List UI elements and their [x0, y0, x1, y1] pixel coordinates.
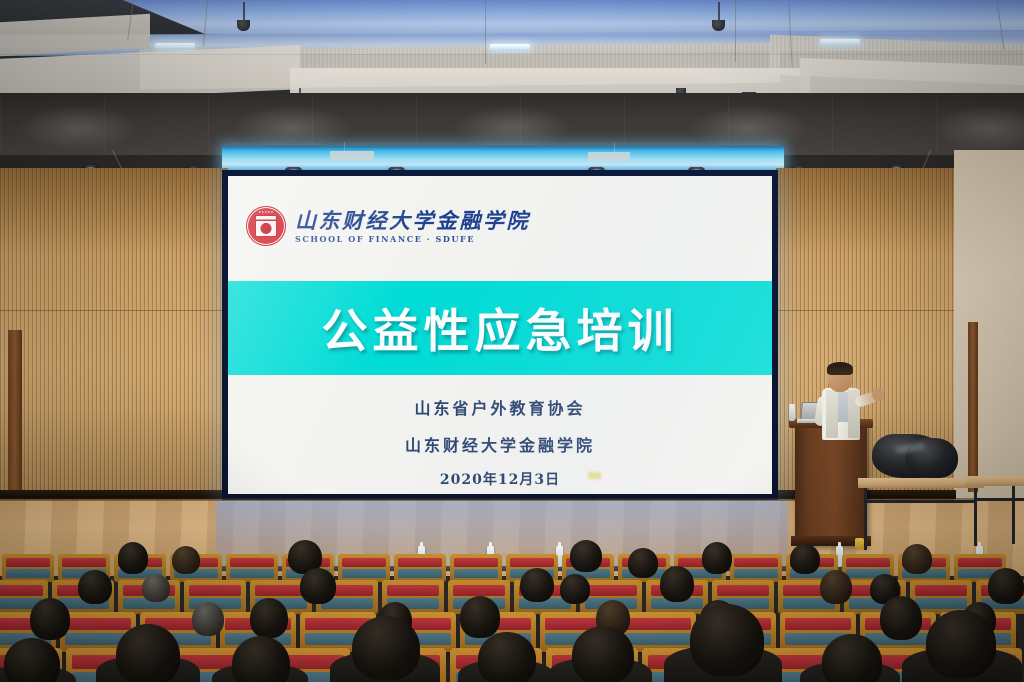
ceiling-seam [0, 54, 1024, 55]
table-crossbar [864, 500, 976, 503]
school-logo: ★★★★★ 山东财经大学金融学院 SCHOOL OF FINANCE · SDU… [246, 206, 530, 246]
seat[interactable] [450, 554, 502, 582]
slot-fixture [330, 151, 374, 160]
seal-arc-text: ★★★★★ [258, 210, 273, 214]
logo-chinese-name: 山东财经大学金融学院 [295, 210, 530, 231]
projection-screen[interactable]: ★★★★★ 山东财经大学金融学院 SCHOOL OF FINANCE · SDU… [228, 176, 772, 494]
audience-head [988, 568, 1024, 604]
subtitle-line-2: 山东财经大学金融学院 [228, 432, 772, 456]
wall-light-glow [688, 105, 808, 151]
ceiling-speaker-icon [237, 20, 250, 31]
audience-head [30, 598, 70, 640]
audience-head [192, 602, 224, 636]
audience-head-foreground [478, 632, 536, 682]
audience-head [628, 548, 658, 578]
hanger-wire [344, 142, 345, 154]
ceiling-light-fixture [490, 44, 530, 50]
audience-head [172, 546, 200, 574]
audience-head [790, 544, 820, 574]
audience-head [142, 574, 170, 602]
audience-head [460, 596, 500, 638]
wall-seam [776, 310, 954, 311]
seat[interactable] [730, 554, 782, 582]
ceiling-seam [735, 0, 736, 62]
seat[interactable] [394, 554, 446, 582]
ceiling-speaker-icon [712, 20, 725, 31]
table-leg [1012, 486, 1015, 544]
door-jamb [8, 330, 22, 492]
door-jamb [968, 322, 978, 492]
speaker-vest-left [826, 390, 838, 438]
ceiling [0, 0, 1024, 96]
slide-header-area: ★★★★★ 山东财经大学金融学院 SCHOOL OF FINANCE · SDU… [228, 176, 772, 281]
audience-head [118, 542, 148, 574]
audience-head [78, 570, 112, 604]
audience-head [570, 540, 602, 572]
speaker-right-hand [872, 388, 884, 401]
slide-subtitle-block: 山东省户外教育协会 山东财经大学金融学院 2020年12月3日 [228, 395, 772, 489]
subtitle-line-1: 山东省户外教育协会 [228, 395, 772, 419]
display-table-2 [966, 476, 1024, 486]
screen-reflection-spot [588, 472, 601, 479]
slot-fixture [588, 152, 630, 161]
audience-head-foreground [572, 626, 634, 682]
podium-water-bottle [789, 404, 795, 421]
audience-head [702, 542, 732, 574]
slide-title: 公益性应急培训 [228, 281, 772, 375]
wall-shading [0, 168, 228, 500]
audience-head-foreground [116, 624, 180, 682]
audience-head-foreground [4, 638, 60, 682]
right-plaster-wall [954, 150, 1024, 522]
ceiling-cove-light-blue [0, 0, 1024, 34]
left-wood-wall [0, 168, 228, 500]
wall-seam [0, 310, 228, 311]
audience-head [250, 598, 288, 638]
audience-head-foreground [690, 604, 764, 676]
speaker-shirt [838, 392, 848, 422]
wall-light-glow [930, 105, 1024, 151]
ceiling-light-fixture [820, 39, 860, 45]
slide-footer-area: 山东省户外教育协会 山东财经大学金融学院 2020年12月3日 [228, 375, 772, 494]
slide-title-band: 公益性应急培训 [228, 281, 772, 375]
seat[interactable] [2, 554, 54, 582]
audience-head-foreground [822, 634, 882, 682]
university-seal-icon: ★★★★★ [246, 206, 286, 246]
logo-text-block: 山东财经大学金融学院 SCHOOL OF FINANCE · SDUFE [295, 210, 530, 243]
seat[interactable] [338, 554, 390, 582]
table-leg [974, 488, 977, 546]
audience-head [560, 574, 590, 604]
ceiling-light-fixture [155, 43, 195, 49]
slide-date: 2020年12月3日 [228, 469, 772, 489]
audience-head [902, 544, 932, 574]
seat[interactable] [226, 554, 278, 582]
speaker-hair [827, 362, 853, 375]
audience-head [660, 566, 694, 602]
audience-head [300, 568, 336, 604]
lecture-hall-photo: ★★★★★ 山东财经大学金融学院 SCHOOL OF FINANCE · SDU… [0, 0, 1024, 682]
seal-emblem-icon [255, 215, 277, 237]
audience-head [820, 570, 852, 604]
logo-english-name: SCHOOL OF FINANCE · SDUFE [295, 235, 530, 243]
wall-light-glow [452, 105, 572, 151]
hanger-wire [614, 142, 615, 154]
audience-seating [0, 540, 1024, 682]
audience-head [880, 596, 922, 640]
table-crossbar [974, 498, 1024, 501]
wall-light-glow [232, 105, 352, 151]
wall-light-glow [18, 105, 138, 151]
audience-head-foreground [926, 610, 996, 678]
audience-head-foreground [352, 616, 420, 680]
audience-head [520, 568, 554, 602]
podium [795, 424, 867, 546]
